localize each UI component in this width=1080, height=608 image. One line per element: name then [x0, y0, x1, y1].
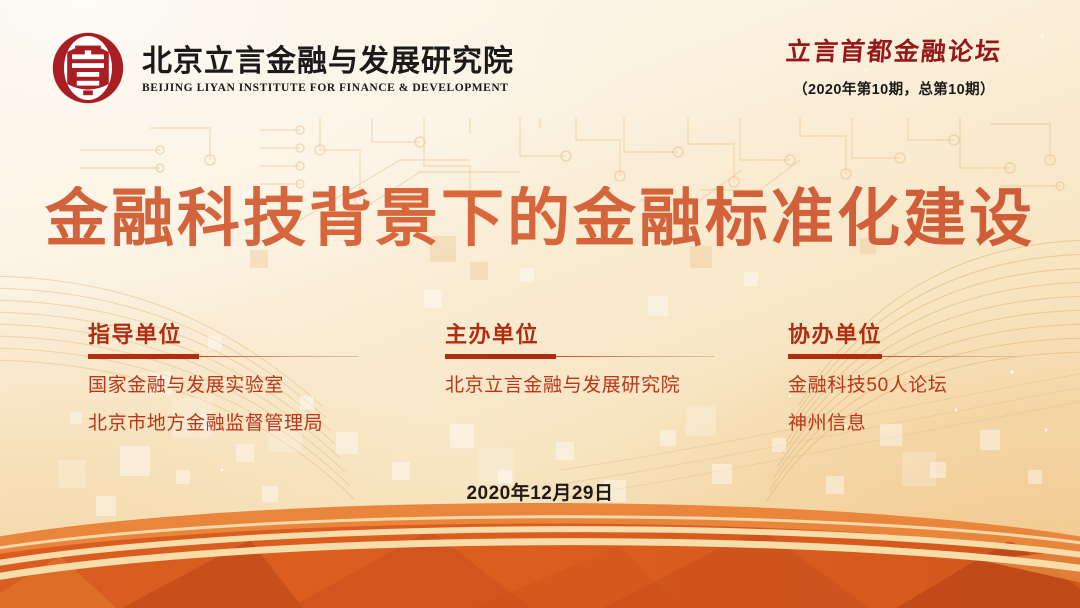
organizer-column-guidance: 指导单位 国家金融与发展实验室 北京市地方金融监督管理局: [88, 322, 378, 436]
institute-seal-logo: [48, 28, 128, 108]
organizer-divider: [788, 353, 1018, 360]
organizer-item: 北京市地方金融监督管理局: [88, 412, 378, 436]
poster-title: 金融科技背景下的金融标准化建设: [0, 186, 1080, 252]
forum-name: 立言首都金融论坛: [743, 38, 1045, 66]
forum-branding: 立言首都金融论坛 （2020年第10期，总第10期）: [744, 38, 1044, 99]
forum-issue: （2020年第10期，总第10期）: [744, 78, 1044, 99]
organizer-heading: 协办单位: [788, 322, 1038, 347]
organizer-columns: 指导单位 国家金融与发展实验室 北京市地方金融监督管理局 主办单位 北京立言金融…: [0, 322, 1080, 452]
poster-header: 北京立言金融与发展研究院 BEIJING LIYAN INSTITUTE FOR…: [0, 0, 1080, 130]
organizer-column-host: 主办单位 北京立言金融与发展研究院: [445, 322, 735, 398]
organizer-item: 金融科技50人论坛: [788, 374, 1038, 398]
institute-name-cn: 北京立言金融与发展研究院: [142, 45, 514, 78]
organizer-divider: [445, 353, 715, 360]
institute-brand: 北京立言金融与发展研究院 BEIJING LIYAN INSTITUTE FOR…: [48, 28, 514, 108]
organizer-heading: 指导单位: [88, 322, 378, 347]
organizer-divider: [88, 353, 358, 360]
forum-poster: 北京立言金融与发展研究院 BEIJING LIYAN INSTITUTE FOR…: [0, 0, 1080, 608]
organizer-item: 神州信息: [788, 412, 1038, 436]
organizer-item: 国家金融与发展实验室: [88, 374, 378, 398]
organizer-heading: 主办单位: [445, 322, 735, 347]
organizer-column-coorganizer: 协办单位 金融科技50人论坛 神州信息: [788, 322, 1038, 436]
institute-name-en: BEIJING LIYAN INSTITUTE FOR FINANCE & DE…: [142, 82, 514, 94]
bottom-arc-band-decoration: [0, 500, 1080, 608]
organizer-item: 北京立言金融与发展研究院: [445, 374, 735, 398]
